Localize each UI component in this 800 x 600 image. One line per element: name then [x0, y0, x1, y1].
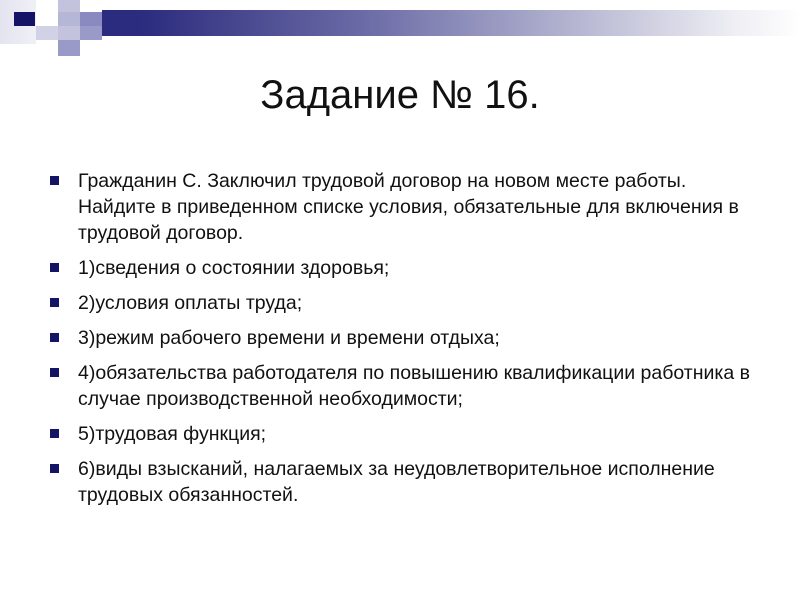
list-item: Гражданин С. Заключил трудовой договор н…: [44, 168, 756, 246]
square-bullet-icon: [50, 298, 59, 307]
decoration-square-dark-2: [102, 10, 142, 36]
list-item: 5)трудовая функция;: [44, 421, 756, 447]
list-item-text: 5)трудовая функция;: [78, 421, 756, 447]
decoration-square-light-4: [58, 26, 80, 40]
decoration-square-mid-3: [80, 12, 102, 26]
list-item: 4)обязательства работодателя по повышени…: [44, 360, 756, 412]
slide-header-decoration: [0, 0, 800, 56]
decoration-square-light-3: [36, 26, 58, 40]
decoration-square-mid-2: [58, 12, 80, 26]
decoration-square-dark-1: [14, 12, 35, 26]
square-bullet-icon: [50, 464, 59, 473]
square-bullet-icon: [50, 333, 59, 342]
decoration-square-light-2: [36, 0, 58, 12]
square-bullet-icon: [50, 368, 59, 377]
list-item-text: Гражданин С. Заключил трудовой договор н…: [78, 168, 756, 246]
bullet-list: Гражданин С. Заключил трудовой договор н…: [44, 168, 756, 517]
decoration-square-mid-1: [36, 12, 58, 26]
decoration-square-mid-4: [80, 26, 102, 40]
list-item: 3)режим рабочего времени и времени отдых…: [44, 325, 756, 351]
decoration-square-mid-5: [58, 40, 80, 56]
square-bullet-icon: [50, 429, 59, 438]
square-bullet-icon: [50, 176, 59, 185]
slide: Задание № 16. Гражданин С. Заключил труд…: [0, 0, 800, 600]
decoration-square-light-1: [58, 0, 80, 12]
list-item: 1)сведения о состоянии здоровья;: [44, 255, 756, 281]
decoration-gradient-bar: [140, 10, 800, 36]
list-item-text: 1)сведения о состоянии здоровья;: [78, 255, 756, 281]
list-item-text: 3)режим рабочего времени и времени отдых…: [78, 325, 756, 351]
list-item-text: 2)условия оплаты труда;: [78, 290, 756, 316]
list-item-text: 4)обязательства работодателя по повышени…: [78, 360, 756, 412]
list-item: 6)виды взысканий, налагаемых за неудовле…: [44, 456, 756, 508]
page-title: Задание № 16.: [60, 72, 740, 118]
list-item-text: 6)виды взысканий, налагаемых за неудовле…: [78, 456, 756, 508]
decoration-square-light-5: [36, 40, 58, 56]
square-bullet-icon: [50, 263, 59, 272]
list-item: 2)условия оплаты труда;: [44, 290, 756, 316]
